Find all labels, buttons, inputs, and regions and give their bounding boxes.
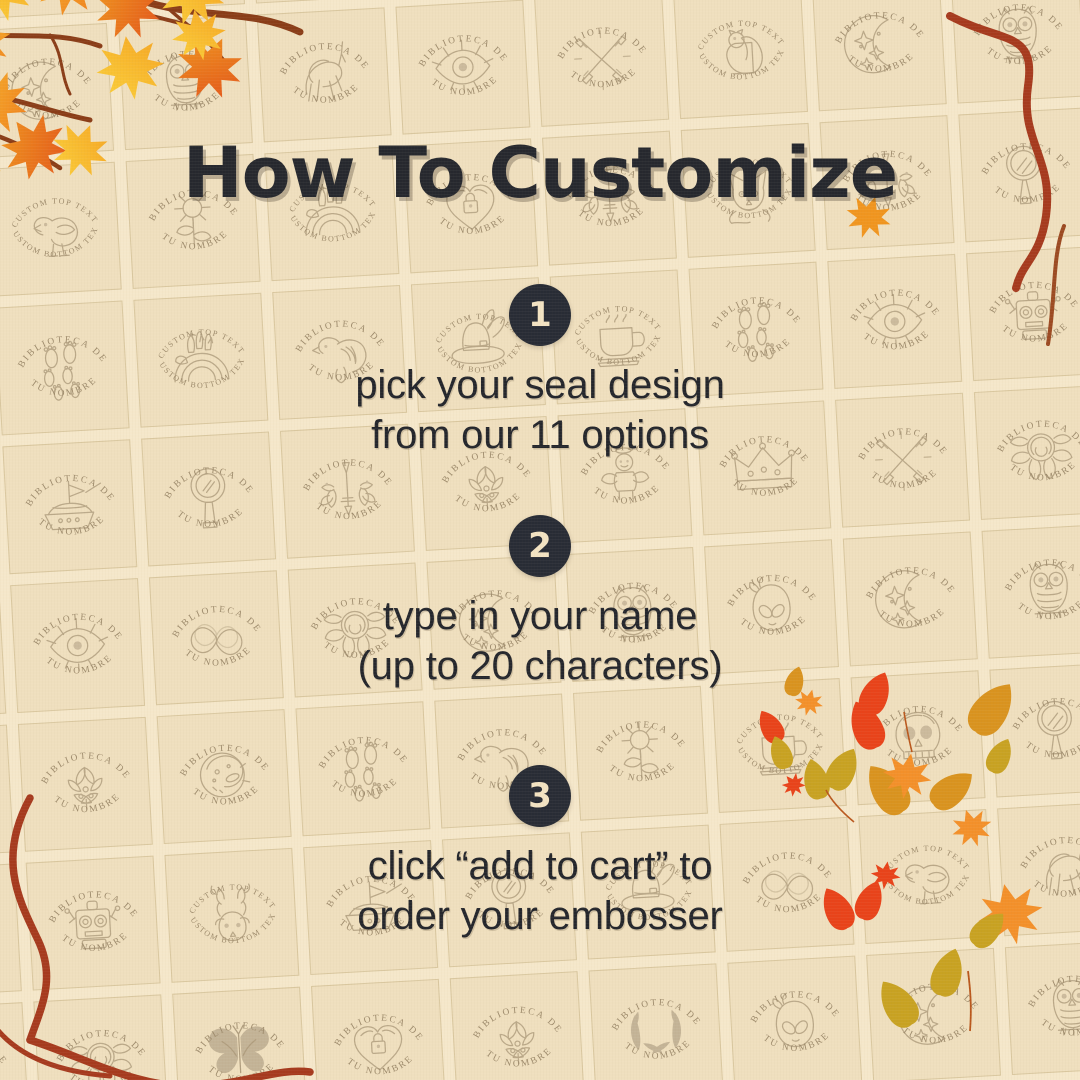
step-1-text: pick your seal design from our 11 option… (0, 360, 1080, 460)
step-1-line-1: pick your seal design (0, 360, 1080, 410)
step-2: 2 type in your name (up to 20 characters… (0, 515, 1080, 691)
poster-content: How To Customize 1 pick your seal design… (0, 0, 1080, 1080)
step-1-line-2: from our 11 options (0, 410, 1080, 460)
step-1-badge: 1 (509, 284, 571, 346)
step-1: 1 pick your seal design from our 11 opti… (0, 284, 1080, 460)
page-title: How To Customize (0, 132, 1080, 214)
poster-canvas: BIBLIOTECA DETU NOMBRE BIBLIOTECA DETU N… (0, 0, 1080, 1080)
step-3: 3 click “add to cart” to order your embo… (0, 765, 1080, 941)
step-3-line-2: order your embosser (0, 891, 1080, 941)
step-2-line-1: type in your name (0, 591, 1080, 641)
step-2-badge: 2 (509, 515, 571, 577)
step-2-text: type in your name (up to 20 characters) (0, 591, 1080, 691)
step-3-text: click “add to cart” to order your emboss… (0, 841, 1080, 941)
step-2-line-2: (up to 20 characters) (0, 641, 1080, 691)
step-3-badge: 3 (509, 765, 571, 827)
step-3-line-1: click “add to cart” to (0, 841, 1080, 891)
